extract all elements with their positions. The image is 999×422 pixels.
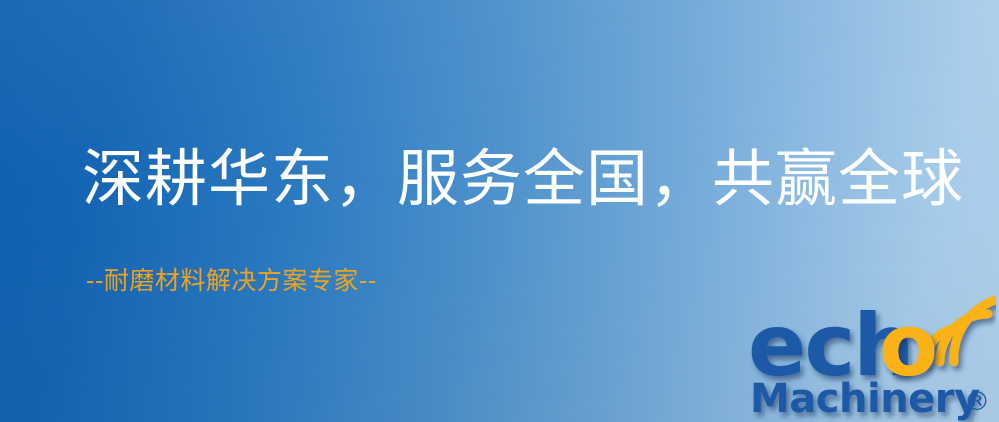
registered-trademark-icon: ® <box>964 387 990 417</box>
signal-arcs-icon <box>926 300 995 362</box>
hero-banner: 深耕华东，服务全国，共赢全球 --耐磨材料解决方案专家-- ech o <box>0 0 999 422</box>
banner-subtitle: --耐磨材料解决方案专家-- <box>86 268 377 293</box>
logo-machinery-text: Machinery <box>750 376 980 422</box>
svg-text:®: ® <box>964 387 990 417</box>
echo-machinery-logo[interactable]: ech o Machinery ® echo Machinery ® <box>748 296 996 422</box>
banner-headline: 深耕华东，服务全国，共赢全球 <box>82 148 964 210</box>
svg-text:Machinery: Machinery <box>750 376 980 422</box>
